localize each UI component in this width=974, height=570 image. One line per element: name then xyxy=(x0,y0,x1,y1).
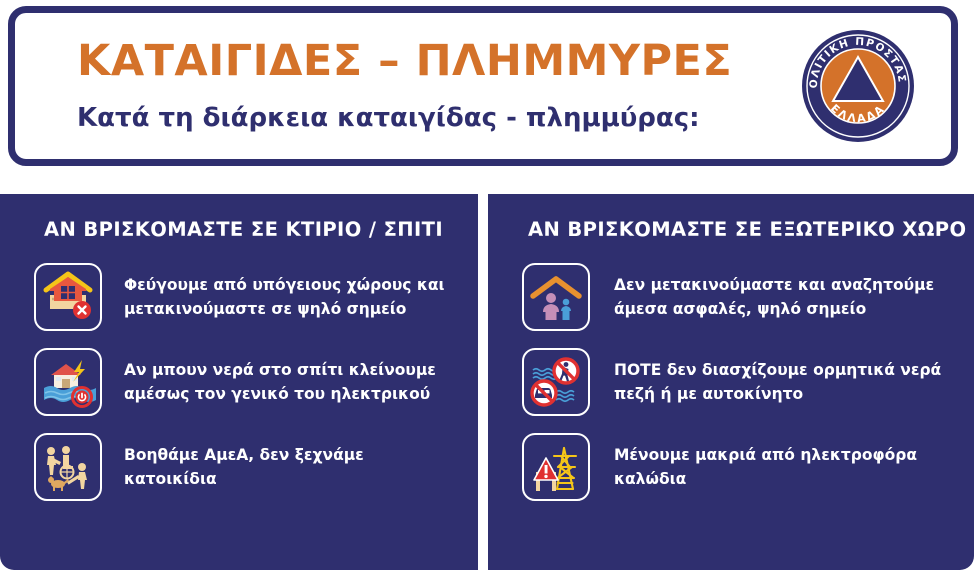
tip-line-2: μετακινούμαστε σε ψηλό σημείο xyxy=(124,297,445,321)
tip-text: Αν μπουν νερά στο σπίτι κλείνουμε αμέσως… xyxy=(124,358,436,406)
shelter-family-high-ground-icon xyxy=(522,263,590,331)
page-title: ΚΑΤΑΙΓΙΔΕΣ – ΠΛΗΜΜΥΡΕΣ xyxy=(77,39,783,84)
tip-text: Μένουμε μακριά από ηλεκτροφόρα καλώδια xyxy=(614,443,917,491)
tip-row: Αν μπουν νερά στο σπίτι κλείνουμε αμέσως… xyxy=(34,348,460,416)
panel-divider xyxy=(478,194,488,570)
tip-row: ΠΟΤΕ δεν διασχίζουμε ορμητικά νερά πεζή … xyxy=(522,348,956,416)
logo-container: ΠΟΛΙΤΙΚΗ ΠΡΟΣΤΑΣΙΑ ΕΛΛΑΔΑ xyxy=(783,27,951,145)
house-basement-flood-prohibited-icon xyxy=(34,263,102,331)
civil-protection-greece-logo-icon: ΠΟΛΙΤΙΚΗ ΠΡΟΣΤΑΣΙΑ ΕΛΛΑΔΑ xyxy=(799,27,917,145)
tip-row: Μένουμε μακριά από ηλεκτροφόρα καλώδια xyxy=(522,433,956,501)
tip-line-1: Μένουμε μακριά από ηλεκτροφόρα xyxy=(614,443,917,467)
tip-row: Φεύγουμε από υπόγειους χώρους και μετακι… xyxy=(34,263,460,331)
tip-line-1: ΠΟΤΕ δεν διασχίζουμε ορμητικά νερά xyxy=(614,358,941,382)
tip-line-2: αμέσως τον γενικό του ηλεκτρικού xyxy=(124,382,436,406)
tip-line-1: Φεύγουμε από υπόγειους χώρους και xyxy=(124,273,445,297)
disabled-assistance-pets-icon xyxy=(34,433,102,501)
panel-outdoors-heading: ΑΝ ΒΡΙΣΚΟΜΑΣΤΕ ΣΕ ΕΞΩΤΕΡΙΚΟ ΧΩΡΟ xyxy=(528,218,956,241)
panel-indoors: ΑΝ ΒΡΙΣΚΟΜΑΣΤΕ ΣΕ ΚΤΙΡΙΟ / ΣΠΙΤΙ xyxy=(0,194,478,570)
tip-text: Φεύγουμε από υπόγειους χώρους και μετακι… xyxy=(124,273,445,321)
tip-row: Βοηθάμε ΑμεΑ, δεν ξεχνάμε κατοικίδια xyxy=(34,433,460,501)
panels-container: ΑΝ ΒΡΙΣΚΟΜΑΣΤΕ ΣΕ ΚΤΙΡΙΟ / ΣΠΙΤΙ xyxy=(0,194,974,570)
header-banner: ΚΑΤΑΙΓΙΔΕΣ – ΠΛΗΜΜΥΡΕΣ Κατά τη διάρκεια … xyxy=(8,6,958,166)
power-lines-warning-icon xyxy=(522,433,590,501)
panel-indoors-heading: ΑΝ ΒΡΙΣΚΟΜΑΣΤΕ ΣΕ ΚΤΙΡΙΟ / ΣΠΙΤΙ xyxy=(44,218,460,241)
tip-text: ΠΟΤΕ δεν διασχίζουμε ορμητικά νερά πεζή … xyxy=(614,358,941,406)
tip-line-2: πεζή ή με αυτοκίνητο xyxy=(614,382,941,406)
no-crossing-floodwater-icon xyxy=(522,348,590,416)
tip-line-1: Αν μπουν νερά στο σπίτι κλείνουμε xyxy=(124,358,436,382)
poster-root: ΚΑΤΑΙΓΙΔΕΣ – ΠΛΗΜΜΥΡΕΣ Κατά τη διάρκεια … xyxy=(0,0,974,570)
tip-line-1: Βοηθάμε ΑμεΑ, δεν ξεχνάμε κατοικίδια xyxy=(124,443,454,491)
tip-line-1: Δεν μετακινούμαστε και αναζητούμε xyxy=(614,273,934,297)
panel-outdoors: ΑΝ ΒΡΙΣΚΟΜΑΣΤΕ ΣΕ ΕΞΩΤΕΡΙΚΟ ΧΩΡΟ xyxy=(488,194,974,570)
tip-text: Δεν μετακινούμαστε και αναζητούμε άμεσα … xyxy=(614,273,934,321)
tip-row: Δεν μετακινούμαστε και αναζητούμε άμεσα … xyxy=(522,263,956,331)
tip-text: Βοηθάμε ΑμεΑ, δεν ξεχνάμε κατοικίδια xyxy=(124,443,454,491)
tip-line-2: άμεσα ασφαλές, ψηλό σημείο xyxy=(614,297,934,321)
header-text-block: ΚΑΤΑΙΓΙΔΕΣ – ΠΛΗΜΜΥΡΕΣ Κατά τη διάρκεια … xyxy=(15,39,783,132)
flooded-house-power-off-icon xyxy=(34,348,102,416)
page-subtitle: Κατά τη διάρκεια καταιγίδας - πλημμύρας: xyxy=(77,103,783,133)
tip-line-2: καλώδια xyxy=(614,467,917,491)
